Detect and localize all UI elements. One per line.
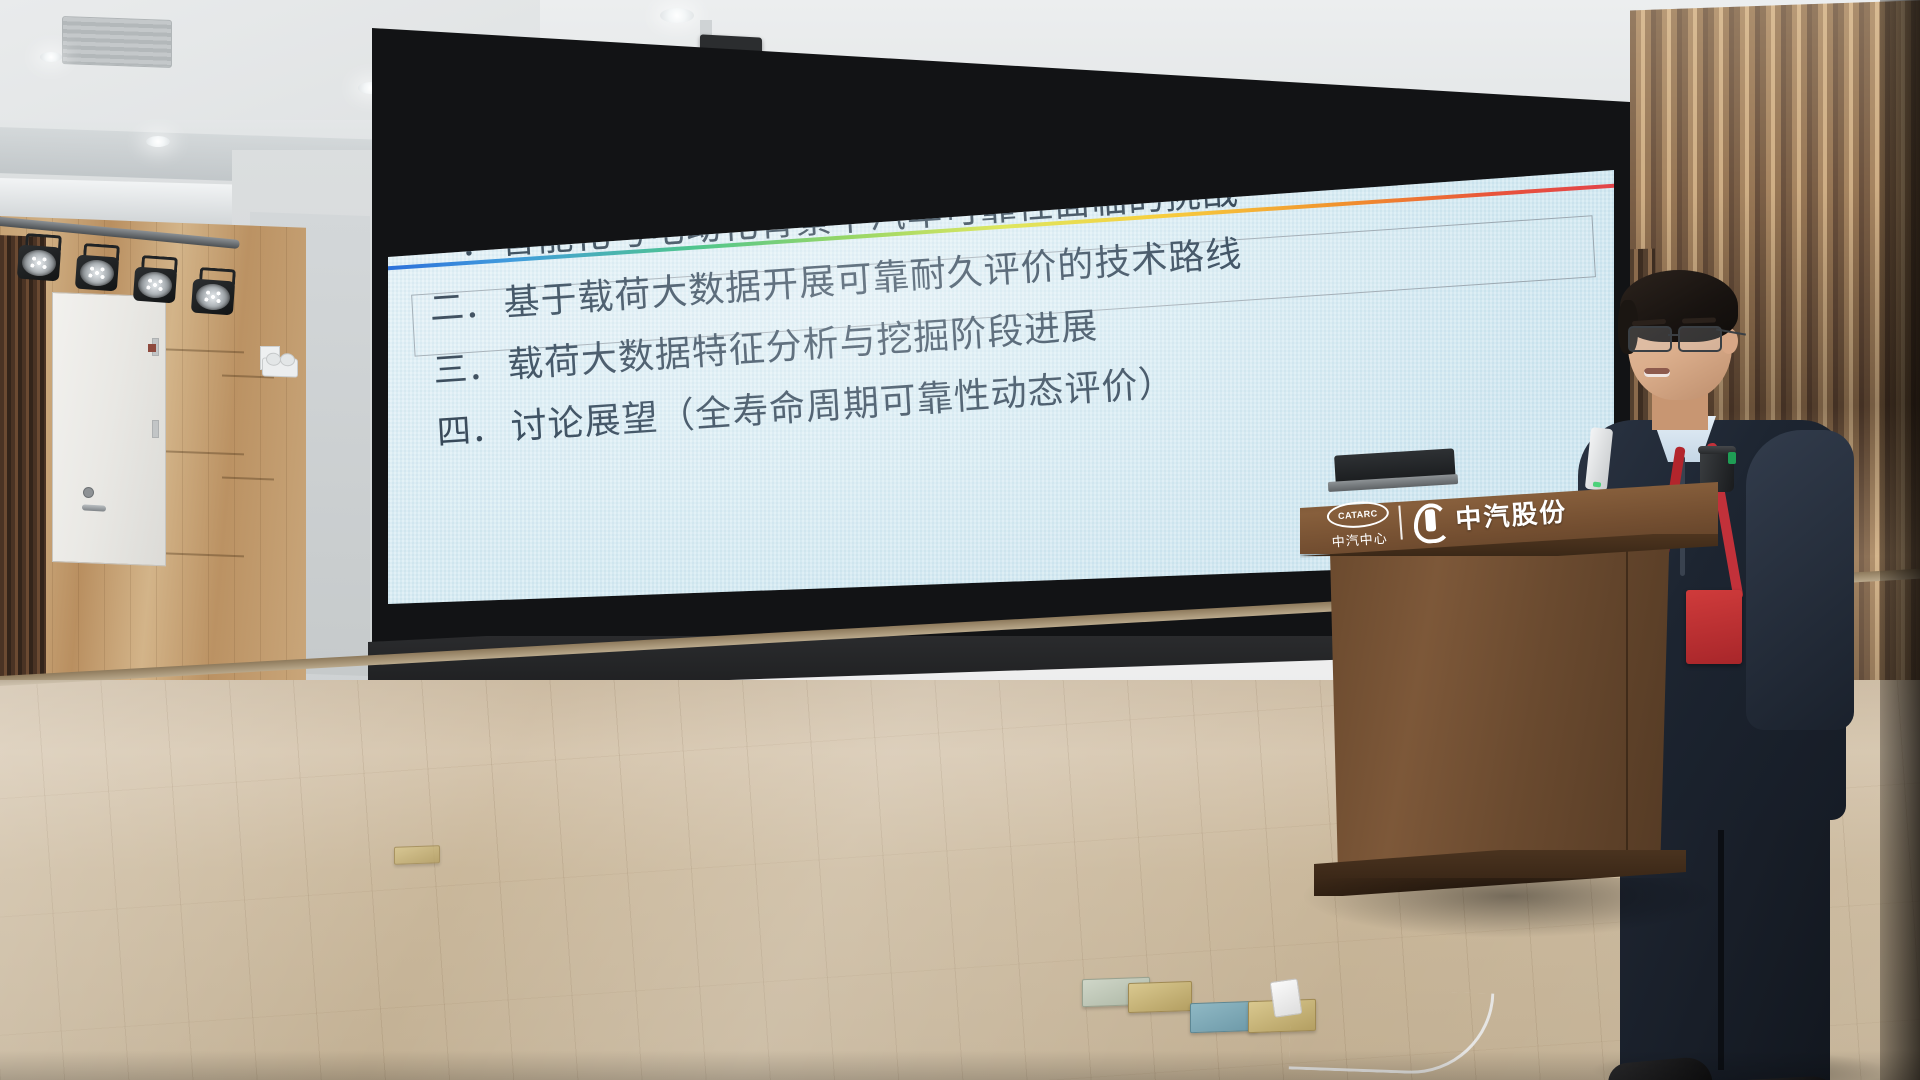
podium: CATARC 中汽中心 中汽股份 <box>1300 482 1730 1080</box>
screenshot-root: 概要 一． 智能化与电动化背景下汽车可靠性面临的挑战 二． 基于载荷大数据开展可… <box>0 0 1920 1080</box>
ceiling-downlight <box>40 52 62 62</box>
stage-light-icon <box>17 243 62 284</box>
glasses-lens <box>1628 326 1672 352</box>
seal-emblem <box>1520 10 1567 46</box>
podium-shadow <box>1300 878 1720 938</box>
floor-outlet-cover[interactable] <box>1128 981 1192 1013</box>
brand-divider <box>1398 505 1402 539</box>
glasses-bridge <box>1668 334 1680 336</box>
podium-body <box>1330 544 1670 874</box>
stage-light-icon <box>75 253 120 294</box>
podium-edge-groove <box>1626 544 1628 874</box>
door-hinge <box>152 420 159 438</box>
catarc-mark-text: CATARC <box>1338 508 1378 521</box>
university-seal-icon <box>1493 10 1594 73</box>
floor-outlet-cover[interactable] <box>394 845 440 865</box>
stage-light-icon <box>191 277 236 318</box>
glasses-icon <box>1626 326 1734 350</box>
bottle-label <box>1728 452 1736 464</box>
reeded-column <box>0 235 46 687</box>
door-lock-icon[interactable] <box>84 488 93 497</box>
ceiling-downlight <box>146 136 170 147</box>
seal-ring <box>1499 10 1588 67</box>
emergency-light-icon <box>262 357 298 377</box>
right-edge-shade <box>1880 0 1920 1080</box>
speaker-shoulder <box>1746 430 1854 730</box>
podium-brand-name: 中汽股份 <box>1454 491 1568 536</box>
ceiling-vent-icon <box>62 16 172 68</box>
room-door[interactable] <box>52 292 166 566</box>
catarc-logo: CATARC 中汽中心 <box>1326 499 1391 550</box>
door-handle-icon[interactable] <box>82 504 106 511</box>
catarc-oval-icon: CATARC <box>1326 499 1390 529</box>
company-emblem-icon <box>1410 500 1447 540</box>
bottom-edge-shade <box>0 1050 1920 1080</box>
speaker-mouth <box>1644 368 1670 377</box>
door-sign <box>148 344 156 352</box>
stage-light-icon <box>133 265 178 306</box>
